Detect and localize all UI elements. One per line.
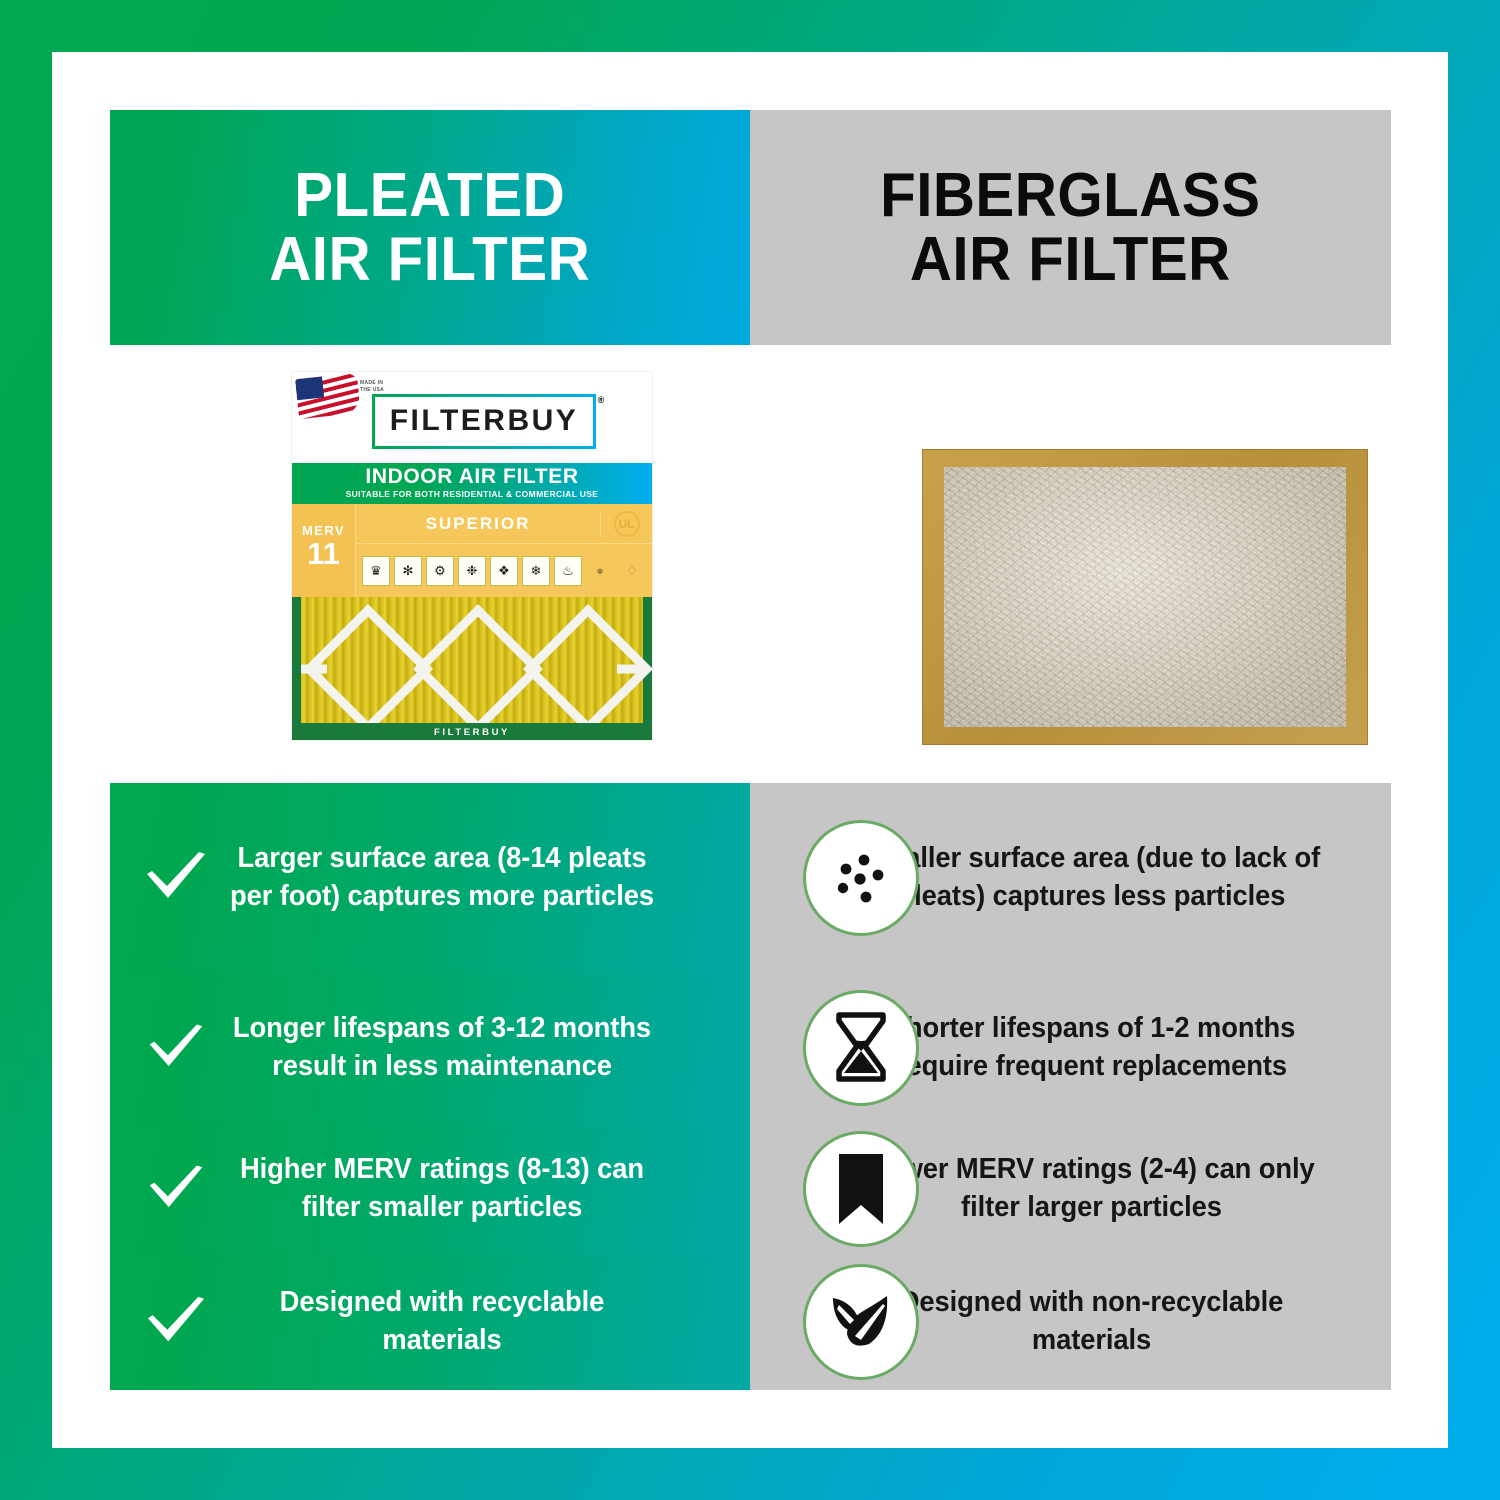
dust-mite-icon: ✻: [394, 556, 422, 586]
odor-icon-faded: ♢: [618, 556, 646, 586]
package-capability-icons: ♛ ✻ ⚙ ❉ ❖ ❄ ♨ ● ♢: [356, 544, 652, 597]
product-images-zone: MADE INTHE USA FILTERBUY ® INDOOR AIR FI…: [110, 345, 1391, 783]
table-row: Higher MERV ratings (8-13) can filter sm…: [110, 1123, 1391, 1254]
filterbuy-logo: FILTERBUY ®: [372, 394, 597, 449]
merv-value: 11: [292, 539, 355, 568]
header-fiberglass-panel: FIBERGLASS AIR FILTER: [750, 110, 1391, 345]
package-indoor-band: INDOOR AIR FILTER SUITABLE FOR BOTH RESI…: [292, 463, 652, 504]
package-grade-row: SUPERIOR UL: [356, 504, 652, 544]
row-1-left-cell: Larger surface area (8-14 pleats per foo…: [110, 783, 750, 973]
table-row: Larger surface area (8-14 pleats per foo…: [110, 783, 1391, 973]
package-top-section: MADE INTHE USA FILTERBUY ®: [292, 372, 652, 463]
white-card: PLEATED AIR FILTER FIBERGLASS AIR FILTER…: [52, 52, 1448, 1448]
filterbuy-logo-text: FILTERBUY: [390, 404, 579, 438]
package-pleat-media: FILTERBUY: [292, 597, 652, 740]
smoke-icon: ♨: [554, 556, 582, 586]
hourglass-icon: [803, 990, 919, 1106]
header-fiberglass-line2: AIR FILTER: [910, 225, 1231, 294]
package-grade-section: SUPERIOR UL ♛ ✻ ⚙ ❉ ❖ ❄ ♨: [356, 504, 652, 597]
particles-dots-icon: [803, 820, 919, 936]
registered-mark: ®: [598, 395, 605, 405]
header-pleated-title: PLEATED AIR FILTER: [270, 164, 591, 292]
bookmark-icon: [803, 1131, 919, 1247]
leaf-icon: [803, 1264, 919, 1380]
virus-icon-faded: ●: [586, 556, 614, 586]
package-gold-band: MERV 11 SUPERIOR UL ♛ ✻ ⚙: [292, 504, 652, 597]
package-band-title: INDOOR AIR FILTER: [292, 466, 652, 488]
pollen-icon: ⚙: [426, 556, 454, 586]
table-row: Designed with recyclable materials Desig…: [110, 1254, 1391, 1390]
header-fiberglass-title: FIBERGLASS AIR FILTER: [880, 164, 1260, 292]
fiberglass-filter-product-image: [922, 449, 1368, 745]
package-merv-block: MERV 11: [292, 504, 356, 597]
ul-seal-icon: UL: [614, 511, 640, 537]
header-pleated-panel: PLEATED AIR FILTER: [110, 110, 750, 345]
check-icon: [140, 851, 212, 905]
infographic-poster: PLEATED AIR FILTER FIBERGLASS AIR FILTER…: [0, 0, 1500, 1500]
fiberglass-media-texture: [944, 467, 1346, 727]
support-strut-right: [617, 664, 643, 673]
pleated-filter-product-image: MADE INTHE USA FILTERBUY ® INDOOR AIR FI…: [292, 372, 652, 740]
header-pleated-line1: PLEATED: [295, 161, 566, 230]
bacteria-icon: ❖: [490, 556, 518, 586]
row-4-left-cell: Designed with recyclable materials: [110, 1254, 750, 1390]
header-band: PLEATED AIR FILTER FIBERGLASS AIR FILTER: [110, 110, 1391, 345]
check-icon: [140, 1295, 212, 1349]
package-grade-label: SUPERIOR: [356, 514, 600, 534]
check-icon: [140, 1164, 212, 1214]
header-pleated-line2: AIR FILTER: [270, 225, 591, 294]
certification-seal: UL: [600, 511, 652, 537]
mold-spore-icon: ❉: [458, 556, 486, 586]
dust-icon: ♛: [362, 556, 390, 586]
check-icon: [140, 1023, 212, 1073]
made-in-usa-label: MADE INTHE USA: [360, 380, 384, 395]
comparison-table: Larger surface area (8-14 pleats per foo…: [110, 783, 1391, 1390]
us-flag-icon: [295, 373, 361, 419]
package-band-subtitle: SUITABLE FOR BOTH RESIDENTIAL & COMMERCI…: [292, 489, 652, 499]
pet-dander-icon: ❄: [522, 556, 550, 586]
row-3-left-text: Higher MERV ratings (8-13) can filter sm…: [221, 1151, 663, 1227]
row-2-left-text: Longer lifespans of 3-12 months result i…: [221, 1010, 663, 1086]
header-fiberglass-line1: FIBERGLASS: [880, 161, 1260, 230]
package-footer-brand: FILTERBUY: [292, 727, 652, 738]
row-2-left-cell: Longer lifespans of 3-12 months result i…: [110, 973, 750, 1123]
table-row: Longer lifespans of 3-12 months result i…: [110, 973, 1391, 1123]
row-4-left-text: Designed with recyclable materials: [221, 1284, 663, 1360]
row-1-left-text: Larger surface area (8-14 pleats per foo…: [221, 840, 663, 916]
row-3-left-cell: Higher MERV ratings (8-13) can filter sm…: [110, 1123, 750, 1254]
